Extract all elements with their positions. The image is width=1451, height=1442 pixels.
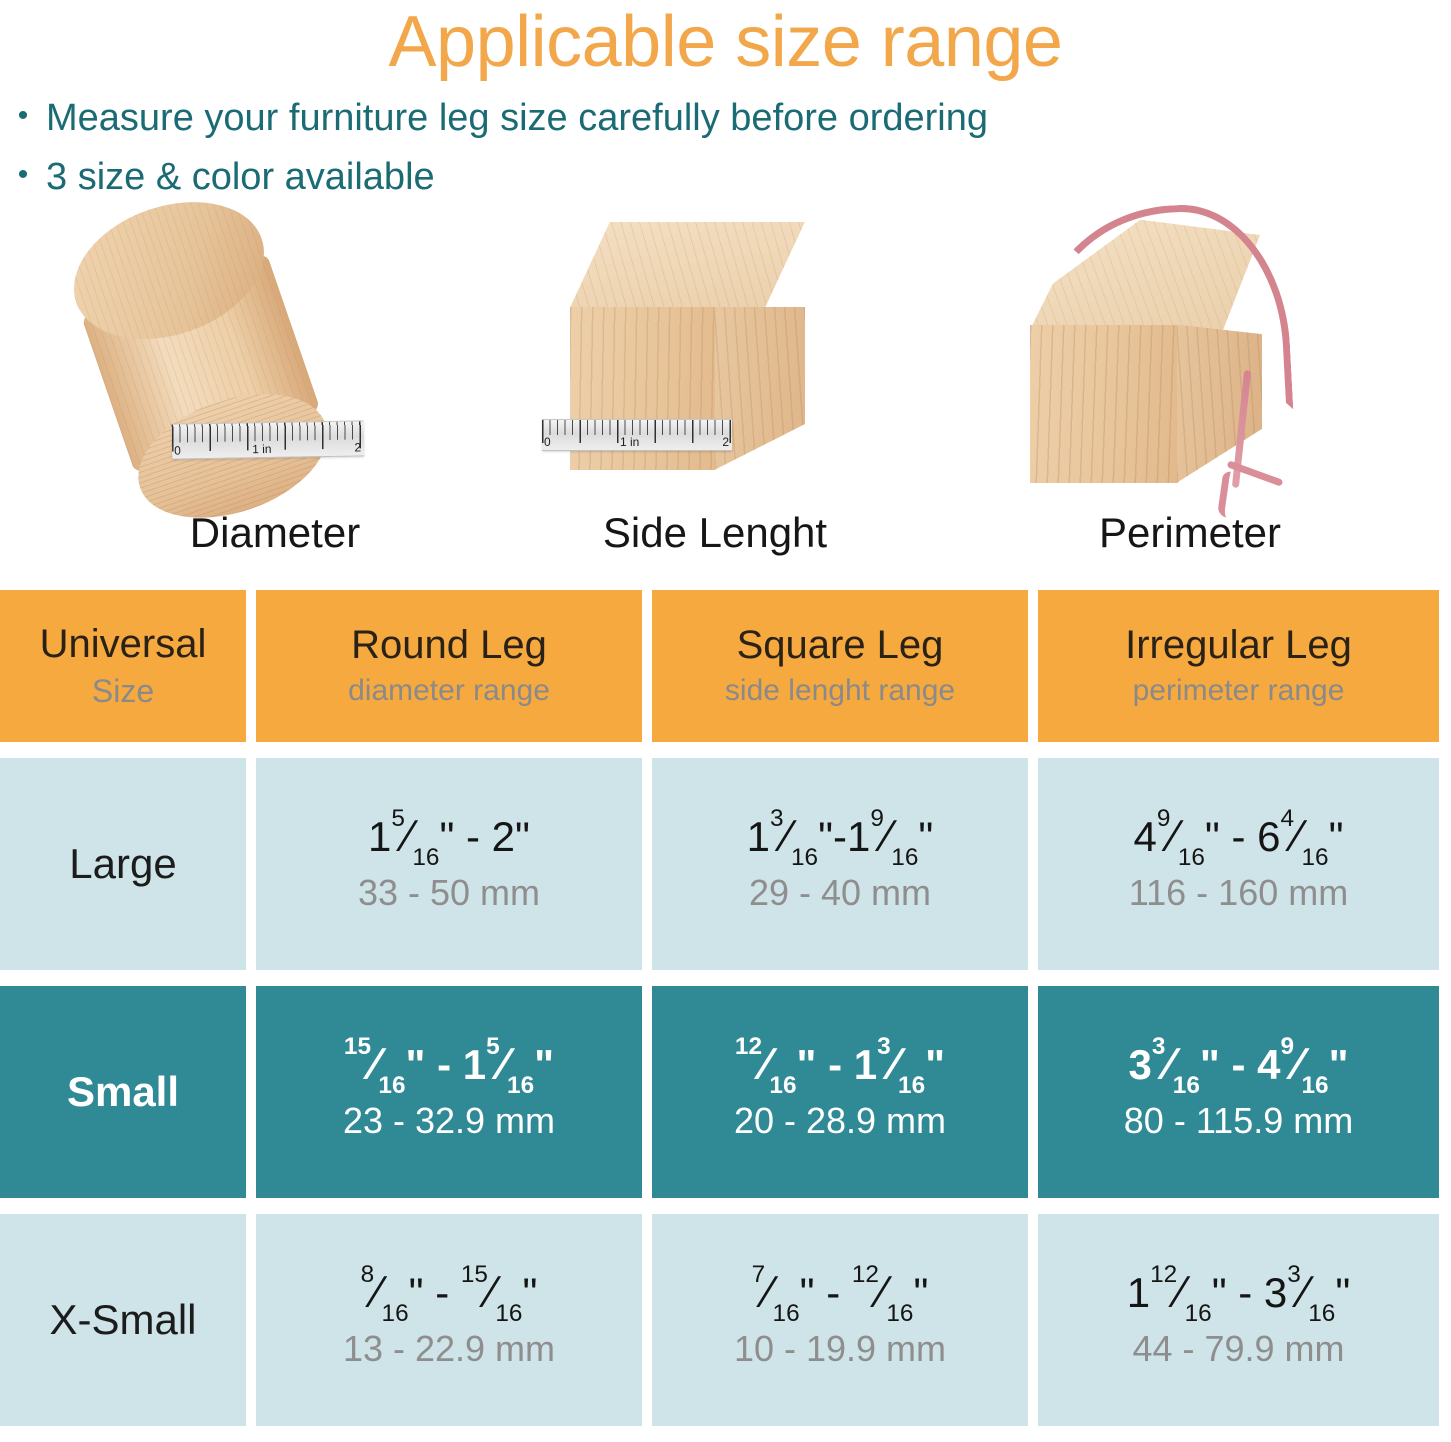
irregular-leg-image	[975, 214, 1405, 489]
metric-range: 23 - 32.9 mm	[343, 1099, 555, 1142]
cylinder-shape	[63, 188, 368, 516]
column-subtitle: Size	[92, 672, 154, 710]
string-icon	[1033, 199, 1294, 422]
size-label: Small	[67, 1068, 179, 1116]
ruler-label-end: 2	[354, 440, 361, 454]
column-subtitle: diameter range	[348, 673, 550, 709]
illustration-caption: Diameter	[60, 512, 490, 554]
table-cell-square: 12⁄16" - 13⁄16" 20 - 28.9 mm	[652, 986, 1028, 1198]
imperial-range: 33⁄16" - 49⁄16"	[1129, 1042, 1349, 1088]
imperial-range: 8⁄16" - 15⁄16"	[361, 1270, 538, 1316]
irregular-block-shape	[1030, 220, 1310, 488]
size-range-table: Universal Size Round Leg diameter range …	[0, 590, 1451, 1442]
bullet-list: • Measure your furniture leg size carefu…	[0, 96, 1451, 200]
column-title: Irregular Leg	[1125, 623, 1352, 667]
table-cell-irregular: 33⁄16" - 49⁄16" 80 - 115.9 mm	[1038, 986, 1439, 1198]
metric-range: 20 - 28.9 mm	[734, 1099, 946, 1142]
round-leg-image: 0 1 in 2	[60, 214, 490, 489]
table-cell-irregular: 112⁄16" - 33⁄16" 44 - 79.9 mm	[1038, 1214, 1439, 1426]
table-cell-round: 15⁄16" - 15⁄16" 23 - 32.9 mm	[256, 986, 642, 1198]
column-subtitle: side lenght range	[725, 673, 955, 709]
bullet-text: 3 size & color available	[46, 155, 1451, 200]
ruler-label-start: 0	[544, 435, 551, 449]
size-label: X-Small	[49, 1296, 196, 1344]
column-title: Square Leg	[737, 623, 944, 667]
imperial-range: 49⁄16" - 64⁄16"	[1134, 814, 1344, 860]
ruler-label-middle: 1 in	[620, 435, 639, 449]
table-cell-square: 7⁄16" - 12⁄16" 10 - 19.9 mm	[652, 1214, 1028, 1426]
square-leg-image: 0 1 in 2	[500, 214, 930, 489]
bullet-text: Measure your furniture leg size carefull…	[46, 96, 1451, 141]
list-item: • Measure your furniture leg size carefu…	[0, 96, 1451, 141]
metric-range: 33 - 50 mm	[358, 871, 540, 914]
illustration-strip: 0 1 in 2 Diameter 0 1 in 2 Side Lenght	[0, 214, 1451, 554]
table-row-highlighted: Small 15⁄16" - 15⁄16" 23 - 32.9 mm 12⁄16…	[0, 986, 1451, 1198]
row-label-cell: X-Small	[0, 1214, 246, 1426]
column-title: Round Leg	[351, 623, 547, 667]
table-cell-round: 8⁄16" - 15⁄16" 13 - 22.9 mm	[256, 1214, 642, 1426]
column-title: Universal	[40, 622, 207, 666]
table-header-row: Universal Size Round Leg diameter range …	[0, 590, 1451, 742]
ruler-label-middle: 1 in	[252, 442, 272, 456]
table-cell-square: 13⁄16"-19⁄16" 29 - 40 mm	[652, 758, 1028, 970]
ruler-label-end: 2	[722, 435, 729, 449]
ruler-icon: 0 1 in 2	[542, 419, 732, 451]
illustration-square-leg: 0 1 in 2 Side Lenght	[500, 214, 930, 554]
size-label: Large	[69, 840, 176, 888]
table-header-cell-round-leg: Round Leg diameter range	[256, 590, 642, 742]
row-label-cell: Small	[0, 986, 246, 1198]
column-subtitle: perimeter range	[1133, 673, 1345, 709]
row-label-cell: Large	[0, 758, 246, 970]
table-header-cell-universal-size: Universal Size	[0, 590, 246, 742]
imperial-range: 15⁄16" - 2"	[368, 814, 530, 860]
imperial-range: 112⁄16" - 33⁄16"	[1127, 1270, 1351, 1316]
imperial-range: 12⁄16" - 13⁄16"	[735, 1042, 945, 1088]
metric-range: 116 - 160 mm	[1129, 871, 1348, 914]
illustration-irregular-leg: Perimeter	[975, 214, 1405, 554]
metric-range: 80 - 115.9 mm	[1124, 1099, 1353, 1142]
ruler-label-start: 0	[174, 443, 181, 457]
metric-range: 44 - 79.9 mm	[1132, 1327, 1344, 1370]
illustration-caption: Perimeter	[975, 512, 1405, 554]
imperial-range: 15⁄16" - 15⁄16"	[344, 1042, 554, 1088]
illustration-round-leg: 0 1 in 2 Diameter	[60, 214, 490, 554]
bullet-dot-icon: •	[0, 96, 46, 137]
metric-range: 10 - 19.9 mm	[734, 1327, 946, 1370]
table-header-cell-irregular-leg: Irregular Leg perimeter range	[1038, 590, 1439, 742]
table-row: Large 15⁄16" - 2" 33 - 50 mm 13⁄16"-19⁄1…	[0, 758, 1451, 970]
metric-range: 29 - 40 mm	[749, 871, 931, 914]
page-title: Applicable size range	[0, 0, 1451, 78]
table-cell-round: 15⁄16" - 2" 33 - 50 mm	[256, 758, 642, 970]
imperial-range: 13⁄16"-19⁄16"	[747, 814, 934, 860]
table-cell-irregular: 49⁄16" - 64⁄16" 116 - 160 mm	[1038, 758, 1439, 970]
metric-range: 13 - 22.9 mm	[343, 1327, 555, 1370]
list-item: • 3 size & color available	[0, 155, 1451, 200]
imperial-range: 7⁄16" - 12⁄16"	[752, 1270, 929, 1316]
table-row: X-Small 8⁄16" - 15⁄16" 13 - 22.9 mm 7⁄16…	[0, 1214, 1451, 1426]
bullet-dot-icon: •	[0, 155, 46, 196]
illustration-caption: Side Lenght	[500, 512, 930, 554]
table-header-cell-square-leg: Square Leg side lenght range	[652, 590, 1028, 742]
ruler-icon: 0 1 in 2	[172, 420, 365, 459]
box-top-face	[570, 222, 805, 308]
